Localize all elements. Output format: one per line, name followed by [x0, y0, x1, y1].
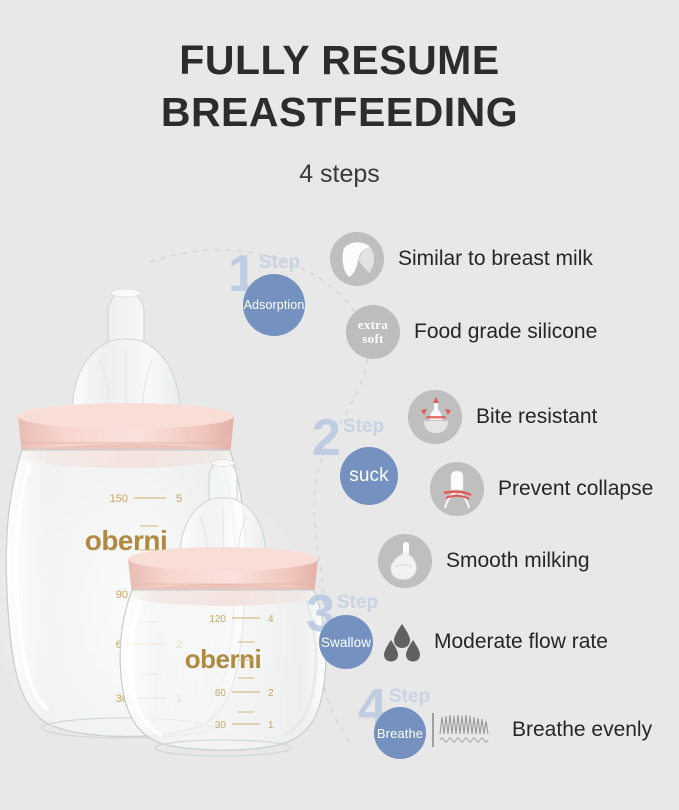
- nipple-silhouette-icon: [330, 232, 384, 286]
- extra-soft-line-1: extra: [358, 318, 388, 332]
- step-4-badge[interactable]: Breathe: [374, 707, 426, 759]
- water-droplets-icon: [378, 618, 426, 666]
- feature-bite-resistant[interactable]: Bite resistant: [408, 390, 597, 444]
- feature-label: Bite resistant: [476, 405, 597, 429]
- feature-breathe-evenly[interactable]: Breathe evenly: [430, 707, 652, 753]
- step-3-badge-label: Swallow: [321, 635, 371, 650]
- step-4-badge-label: Breathe: [377, 726, 423, 741]
- step-1-badge[interactable]: Adsorption: [243, 274, 305, 336]
- step-4-step-word: Step: [389, 686, 430, 708]
- step-2-badge[interactable]: suck: [340, 447, 398, 505]
- nipple-smooth-icon: [378, 534, 432, 588]
- nipple-pressure-arrows-icon: [408, 390, 462, 444]
- step-3-badge[interactable]: Swallow: [319, 615, 373, 669]
- feature-smooth-milking[interactable]: Smooth milking: [378, 534, 590, 588]
- feature-label: Moderate flow rate: [434, 630, 608, 654]
- feature-moderate-flow-rate[interactable]: Moderate flow rate: [378, 618, 608, 666]
- step-2-badge-label: suck: [349, 465, 388, 487]
- feature-label: Food grade silicone: [414, 320, 597, 344]
- extra-soft-line-2: soft: [358, 332, 388, 346]
- step-1-step-word: Step: [259, 252, 300, 274]
- feature-prevent-collapse[interactable]: Prevent collapse: [430, 462, 653, 516]
- feature-label: Breathe evenly: [512, 718, 652, 742]
- feature-food-grade-silicone[interactable]: extra soft Food grade silicone: [346, 305, 597, 359]
- feature-similar-to-breast-milk[interactable]: Similar to breast milk: [330, 232, 593, 286]
- extra-soft-icon: extra soft: [346, 305, 400, 359]
- step-1-badge-label: Adsorption: [244, 298, 305, 312]
- nipple-collapse-icon: [430, 462, 484, 516]
- steps-column: 1Step Adsorption Similar to breast milk …: [0, 0, 679, 810]
- step-3-step-word: Step: [337, 592, 378, 614]
- waveform-icon: [430, 707, 506, 753]
- step-2-number: 2: [312, 412, 341, 464]
- feature-label: Prevent collapse: [498, 477, 653, 501]
- step-2-step-word: Step: [343, 416, 384, 438]
- feature-label: Similar to breast milk: [398, 247, 593, 271]
- feature-label: Smooth milking: [446, 549, 590, 573]
